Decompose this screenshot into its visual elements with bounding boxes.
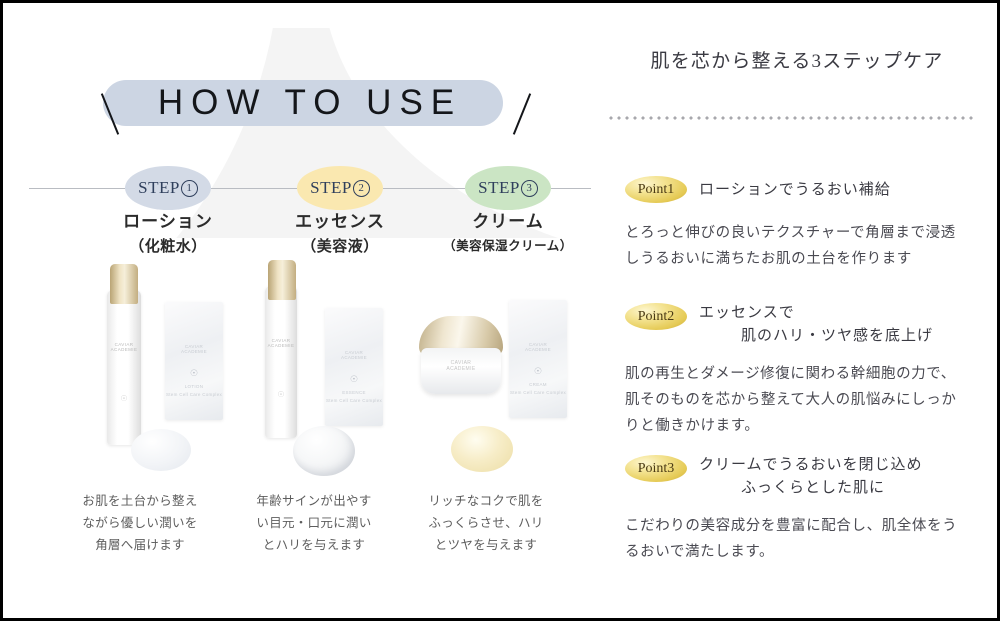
point-head-3: クリームでうるおいを閉じ込め ふっくらとした肌に — [699, 454, 923, 500]
point-body-3: こだわりの美容成分を豊富に配合し、肌全体をうるおいで満たします。 — [625, 513, 977, 565]
point-head-1-line1: ローションでうるおい補給 — [699, 182, 891, 198]
sachet-desc-label: Stem Cell Care Complex — [165, 392, 223, 397]
bottle-emblem-icon: ☉ — [265, 390, 297, 399]
step-name-3-sub: （美容保湿クリーム） — [425, 234, 591, 258]
point-head-2-line1: エッセンスで — [699, 305, 795, 321]
sachet-brand-label: CAVIARACADEMIE — [165, 344, 223, 354]
bottle-cap — [268, 260, 296, 300]
step-name-1-title: ローション — [93, 210, 243, 234]
sachet-product-label: ESSENCE — [325, 390, 383, 395]
step-badge-3-number: 3 — [521, 180, 538, 197]
step-badge-1-number: 1 — [181, 180, 198, 197]
point-head-3-line2: ふっくらとした肌に — [699, 477, 923, 500]
step-name-1: ローション （化粧水） — [93, 210, 243, 258]
lotion-bottle-image: CAVIARACADEMIE ☉ — [107, 290, 141, 445]
dotted-divider — [607, 116, 975, 120]
cream-sachet-image: CAVIARACADEMIE ☉ CREAM Stem Cell Care Co… — [509, 300, 567, 418]
bottle-cap — [110, 264, 138, 304]
cream-jar-image: CAVIARACADEMIE — [417, 316, 505, 394]
points-panel-title: 肌を芯から整える3ステップケア — [611, 46, 983, 73]
point-block-3: Point3 クリームでうるおいを閉じ込め ふっくらとした肌に こだわりの美容成… — [611, 455, 983, 575]
headline-block: HOW TO USE — [21, 66, 599, 140]
sachet-desc-label: Stem Cell Care Complex — [325, 398, 383, 403]
step-name-2-sub: （美容液） — [265, 234, 415, 258]
how-to-use-panel: HOW TO USE STEP1 STEP2 STEP3 ローション — [21, 28, 599, 561]
step-badge-1[interactable]: STEP1 — [125, 166, 211, 210]
point-head-2: エッセンスで 肌のハリ・ツヤ感を底上げ — [699, 302, 933, 348]
sachet-emblem-icon: ☉ — [325, 374, 383, 385]
bottle-emblem-icon: ☉ — [107, 394, 141, 403]
step-badge-2-number: 2 — [353, 180, 370, 197]
point-block-2: Point2 エッセンスで 肌のハリ・ツヤ感を底上げ 肌の再生とダメージ修復に関… — [611, 303, 983, 453]
step-badge-2[interactable]: STEP2 — [297, 166, 383, 210]
product-group-cream: CAVIARACADEMIE CAVIARACADEMIE ☉ CREAM St… — [403, 266, 583, 476]
essence-texture-swatch — [293, 426, 355, 476]
step-connector-line — [383, 188, 465, 189]
sachet-brand-label: CAVIARACADEMIE — [325, 350, 383, 360]
point-head-3-line1: クリームでうるおいを閉じ込め — [699, 457, 923, 473]
step-badge-3[interactable]: STEP3 — [465, 166, 551, 210]
point-body-2: 肌の再生とダメージ修復に関わる幹細胞の力で、肌そのものを芯から整えて大人の肌悩み… — [625, 361, 977, 439]
step-badge-2-label: STEP — [310, 178, 352, 198]
essence-bottle-image: CAVIARACADEMIE ☉ — [265, 286, 297, 438]
lotion-sachet-image: CAVIARACADEMIE ☉ LOTION Stem Cell Care C… — [165, 302, 223, 420]
step-badge-row: STEP1 STEP2 STEP3 — [21, 166, 599, 212]
product-group-lotion: CAVIARACADEMIE ☉ CAVIARACADEMIE ☉ LOTION… — [73, 266, 233, 476]
point-head-2-line2: 肌のハリ・ツヤ感を底上げ — [699, 325, 933, 348]
step-name-3: クリーム （美容保湿クリーム） — [425, 210, 591, 258]
point-body-1: とろっと伸びの良いテクスチャーで角層まで浸透しうるおいに満ちたお肌の土台を作りま… — [625, 220, 977, 272]
caption-cream: リッチなコクで肌をふっくらさせ、ハリとツヤを与えます — [411, 490, 561, 556]
point-block-1: Point1 ローションでうるおい補給 とろっと伸びの良いテクスチャーで角層まで… — [611, 176, 983, 286]
points-panel: 肌を芯から整える3ステップケア Point1 ローションでうるおい補給 とろっと… — [611, 28, 983, 561]
caption-essence: 年齢サインが出やすい目元・口元に潤いとハリを与えます — [239, 490, 389, 556]
jar-brand-label: CAVIARACADEMIE — [421, 360, 501, 372]
essence-sachet-image: CAVIARACADEMIE ☉ ESSENCE Stem Cell Care … — [325, 308, 383, 426]
step-connector-line — [211, 188, 297, 189]
sachet-product-label: CREAM — [509, 382, 567, 387]
caption-lotion: お肌を土台から整えながら優しい潤いを角層へ届けます — [65, 490, 215, 556]
lotion-texture-swatch — [131, 429, 191, 471]
step-connector-line — [551, 188, 591, 189]
step-name-2: エッセンス （美容液） — [265, 210, 415, 258]
bottle-brand-label: CAVIARACADEMIE — [107, 342, 141, 352]
sachet-emblem-icon: ☉ — [509, 366, 567, 377]
step-connector-line — [29, 188, 125, 189]
point-head-1: ローションでうるおい補給 — [699, 179, 891, 202]
bottle-brand-label: CAVIARACADEMIE — [265, 338, 297, 348]
step-name-row: ローション （化粧水） エッセンス （美容液） クリーム （美容保湿クリーム） — [21, 210, 599, 266]
step-badge-3-label: STEP — [478, 178, 520, 198]
point-badge-1[interactable]: Point1 — [625, 176, 687, 203]
step-name-2-title: エッセンス — [265, 210, 415, 234]
step-name-3-title: クリーム — [425, 210, 591, 234]
point-badge-2[interactable]: Point2 — [625, 303, 687, 330]
jar-body: CAVIARACADEMIE — [421, 348, 501, 394]
page-title: HOW TO USE — [158, 83, 462, 123]
step-badge-1-label: STEP — [138, 178, 180, 198]
product-group-essence: CAVIARACADEMIE ☉ CAVIARACADEMIE ☉ ESSENC… — [243, 266, 403, 476]
slash-right-icon — [513, 93, 531, 135]
poster-root: HOW TO USE STEP1 STEP2 STEP3 ローション — [0, 0, 1000, 621]
sachet-product-label: LOTION — [165, 384, 223, 389]
sachet-desc-label: Stem Cell Care Complex — [509, 390, 567, 395]
cream-texture-swatch — [451, 426, 513, 472]
sachet-emblem-icon: ☉ — [165, 368, 223, 379]
step-name-1-sub: （化粧水） — [93, 234, 243, 258]
sachet-brand-label: CAVIARACADEMIE — [509, 342, 567, 352]
point-badge-3[interactable]: Point3 — [625, 455, 687, 482]
